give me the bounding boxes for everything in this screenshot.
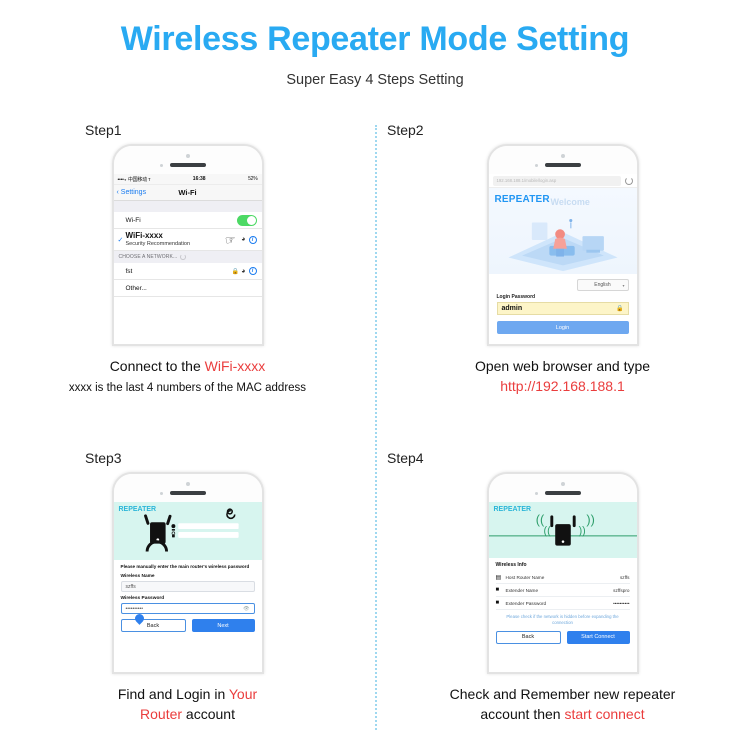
clock-label: 16:38	[150, 176, 248, 182]
step4-info: Wireless Info ▤ Host Router Name szffs ■…	[489, 558, 637, 644]
network-info-icon[interactable]: i	[249, 267, 257, 275]
brand-label: REPEATER	[495, 194, 550, 205]
reload-icon[interactable]	[625, 177, 633, 185]
wireless-password-label: Wireless Password	[121, 596, 255, 601]
caption-1-text: Connect to the	[110, 358, 205, 374]
nav-title: Wi-Fi	[178, 188, 196, 197]
page-subtitle: Super Easy 4 Steps Setting	[0, 72, 750, 88]
wifi-toggle-switch[interactable]	[237, 215, 257, 226]
back-to-settings-button[interactable]: ‹ Settings	[117, 189, 147, 196]
phone-top-bezel	[114, 474, 262, 502]
earpiece-speaker	[170, 163, 206, 167]
sensor-icon	[535, 164, 538, 167]
phone-top-bezel	[489, 146, 637, 174]
manual-entry-note: Please manually enter the main router's …	[121, 564, 255, 570]
sensor-icon	[160, 164, 163, 167]
start-connect-button[interactable]: Start Connect	[567, 631, 630, 644]
step-caption-1: Connect to the WiFi-xxxx xxxx is the las…	[0, 356, 375, 397]
login-button[interactable]: Login	[497, 321, 629, 334]
phone-screen-2: 192.168.188.1/mobile/login.asp REPEATER …	[489, 174, 637, 344]
phone-screen-3: REPEATER	[114, 502, 262, 672]
list-spacer	[114, 201, 262, 212]
language-row: English ▾	[497, 279, 629, 291]
caption-4-tail: account then	[480, 706, 564, 722]
hidden-network-note: Please check if the network is hidden be…	[496, 614, 630, 626]
phone-mockup-3: REPEATER	[112, 472, 264, 674]
wireless-password-value: ••••••••••	[126, 606, 144, 612]
caption-1-highlight: WiFi-xxxx	[205, 358, 266, 374]
step-cell-2: Step2 192.168.188.1/mobile/login.asp REP…	[375, 122, 750, 397]
ios-nav-bar: ‹ Settings Wi-Fi	[114, 185, 262, 201]
svg-text:)): ))	[586, 513, 594, 527]
info-value: ••••••••••	[613, 601, 629, 606]
phone-screen-4: REPEATER (( (( )) ))	[489, 502, 637, 672]
step3-form: Please manually enter the main router's …	[114, 560, 262, 632]
step-caption-4: Check and Remember new repeater account …	[375, 684, 750, 725]
network-row-other[interactable]: Other...	[114, 280, 262, 297]
wireless-info-title: Wireless Info	[496, 562, 630, 568]
ios-status-bar: ••••∘ 中国移动 ᴛ 16:38 52%	[114, 174, 262, 185]
wireless-name-value: szffs	[126, 584, 136, 590]
back-button[interactable]: Back	[121, 619, 186, 632]
phone-top-bezel	[114, 146, 262, 174]
lock-icon: 🔒	[232, 268, 239, 275]
svg-text:)): ))	[578, 525, 585, 537]
checkmark-icon: ✓	[118, 236, 124, 244]
login-password-value: admin	[502, 305, 523, 312]
toggle-knob	[247, 216, 256, 225]
login-password-input[interactable]: admin 🔒	[497, 302, 629, 315]
info-name: Extender Password	[506, 601, 614, 606]
sensor-icon	[160, 492, 163, 495]
choose-network-label: CHOOSE A NETWORK...	[119, 254, 178, 260]
caption-3-highlight-2: Router	[140, 706, 182, 722]
step-label-2: Step2	[387, 122, 750, 138]
network-name-other: Other...	[126, 285, 257, 292]
connected-network-row[interactable]: ✓ WiFi-xxxx Security Recommendation ◕ i …	[114, 229, 262, 251]
step-label-4: Step4	[387, 450, 750, 466]
sensor-icon	[535, 492, 538, 495]
extender-icon: ■	[496, 600, 506, 606]
wireless-name-input[interactable]: szffs	[121, 581, 255, 592]
battery-label: 52%	[248, 176, 257, 182]
eye-icon[interactable]: 👁	[243, 606, 249, 612]
caption-2-highlight: http://192.168.188.1	[500, 378, 625, 394]
wifi-toggle-label: Wi-Fi	[126, 217, 237, 224]
caption-4-highlight: start connect	[564, 706, 644, 722]
info-value: szffs	[620, 575, 630, 580]
earpiece-speaker	[170, 491, 206, 495]
language-value: English	[594, 282, 610, 288]
wireless-password-input[interactable]: •••••••••• 👁	[121, 603, 255, 614]
step-label-3: Step3	[85, 450, 375, 466]
caption-3-text: Find and Login in	[118, 686, 229, 702]
repeater-signal-graphic: (( (( )) ))	[489, 502, 637, 558]
carrier-label: ••••∘ 中国移动 ᴛ	[118, 176, 151, 183]
earpiece-speaker	[545, 491, 581, 495]
table-row: ▤ Host Router Name szffs	[496, 571, 630, 584]
router-icon: ▤	[496, 574, 506, 581]
loading-spinner-icon	[180, 254, 186, 260]
step-caption-2: Open web browser and type http://192.168…	[375, 356, 750, 397]
caption-3-highlight-1: Your	[229, 686, 257, 702]
camera-icon	[561, 482, 565, 486]
camera-icon	[186, 154, 190, 158]
next-button[interactable]: Next	[192, 619, 255, 632]
repeater-device-graphic	[114, 502, 262, 560]
back-button[interactable]: Back	[496, 631, 561, 644]
phone-mockup-4: REPEATER (( (( )) ))	[487, 472, 639, 674]
illustration-graphic	[489, 206, 637, 274]
repeater-hero-3: REPEATER	[114, 502, 262, 560]
step-cell-4: Step4 REPEATER	[375, 450, 750, 725]
caption-4-text: Check and Remember new repeater	[450, 686, 676, 702]
info-value: szffspro	[613, 588, 629, 593]
caption-3-tail: account	[182, 706, 235, 722]
network-row-fst[interactable]: fst 🔒 ◕ i	[114, 263, 262, 280]
wireless-name-label: Wireless Name	[121, 574, 255, 579]
browser-url-bar[interactable]: 192.168.188.1/mobile/login.asp	[489, 174, 637, 188]
poster-root: Wireless Repeater Mode Setting Super Eas…	[0, 0, 750, 750]
connected-ssid-subtitle: Security Recommendation	[126, 241, 191, 247]
phone-mockup-2: 192.168.188.1/mobile/login.asp REPEATER …	[487, 144, 639, 346]
phone-mockup-1: ••••∘ 中国移动 ᴛ 16:38 52% ‹ Settings Wi-Fi …	[112, 144, 264, 346]
svg-text:((: ((	[543, 525, 551, 537]
login-form: English ▾ Login Password admin 🔒 Login	[489, 274, 637, 334]
extender-icon: ■	[496, 587, 506, 593]
table-row: ■ Extender Password ••••••••••	[496, 597, 630, 610]
phone-top-bezel	[489, 474, 637, 502]
wifi-signal-icon: ◕	[241, 236, 245, 243]
info-name: Extender Name	[506, 588, 614, 593]
cursor-hand-icon: ☞	[224, 232, 237, 247]
camera-icon	[186, 482, 190, 486]
phone-screen-1: ••••∘ 中国移动 ᴛ 16:38 52% ‹ Settings Wi-Fi …	[114, 174, 262, 344]
lock-icon: 🔒	[616, 305, 623, 312]
camera-icon	[561, 154, 565, 158]
wifi-signal-icon: ◕	[241, 268, 245, 275]
page-title: Wireless Repeater Mode Setting	[0, 0, 750, 56]
caption-1-line2: xxxx is the last 4 numbers of the MAC ad…	[69, 382, 306, 394]
login-password-label: Login Password	[497, 294, 629, 300]
caption-2-text: Open web browser and type	[475, 358, 650, 374]
login-hero-banner: REPEATER Welcome	[489, 188, 637, 274]
wifi-toggle-row[interactable]: Wi-Fi	[114, 212, 262, 229]
url-input[interactable]: 192.168.188.1/mobile/login.asp	[493, 176, 621, 186]
network-info-icon[interactable]: i	[249, 236, 257, 244]
network-name-fst: fst	[126, 268, 232, 275]
step-caption-3: Find and Login in Your Router account	[0, 684, 375, 725]
step4-button-row: Back Start Connect	[496, 631, 630, 644]
earpiece-speaker	[545, 163, 581, 167]
language-select[interactable]: English ▾	[577, 279, 629, 291]
repeater-hero-4: REPEATER (( (( )) ))	[489, 502, 637, 558]
step-cell-1: Step1 ••••∘ 中国移动 ᴛ 16:38 52% ‹ Settings	[0, 122, 375, 397]
choose-network-header: CHOOSE A NETWORK...	[114, 251, 262, 263]
step-cell-3: Step3 REPEATER	[0, 450, 375, 725]
info-name: Host Router Name	[506, 575, 620, 580]
chevron-down-icon: ▾	[622, 283, 624, 288]
table-row: ■ Extender Name szffspro	[496, 584, 630, 597]
connected-ssid: WiFi-xxxx	[126, 231, 163, 240]
step-label-1: Step1	[85, 122, 375, 138]
